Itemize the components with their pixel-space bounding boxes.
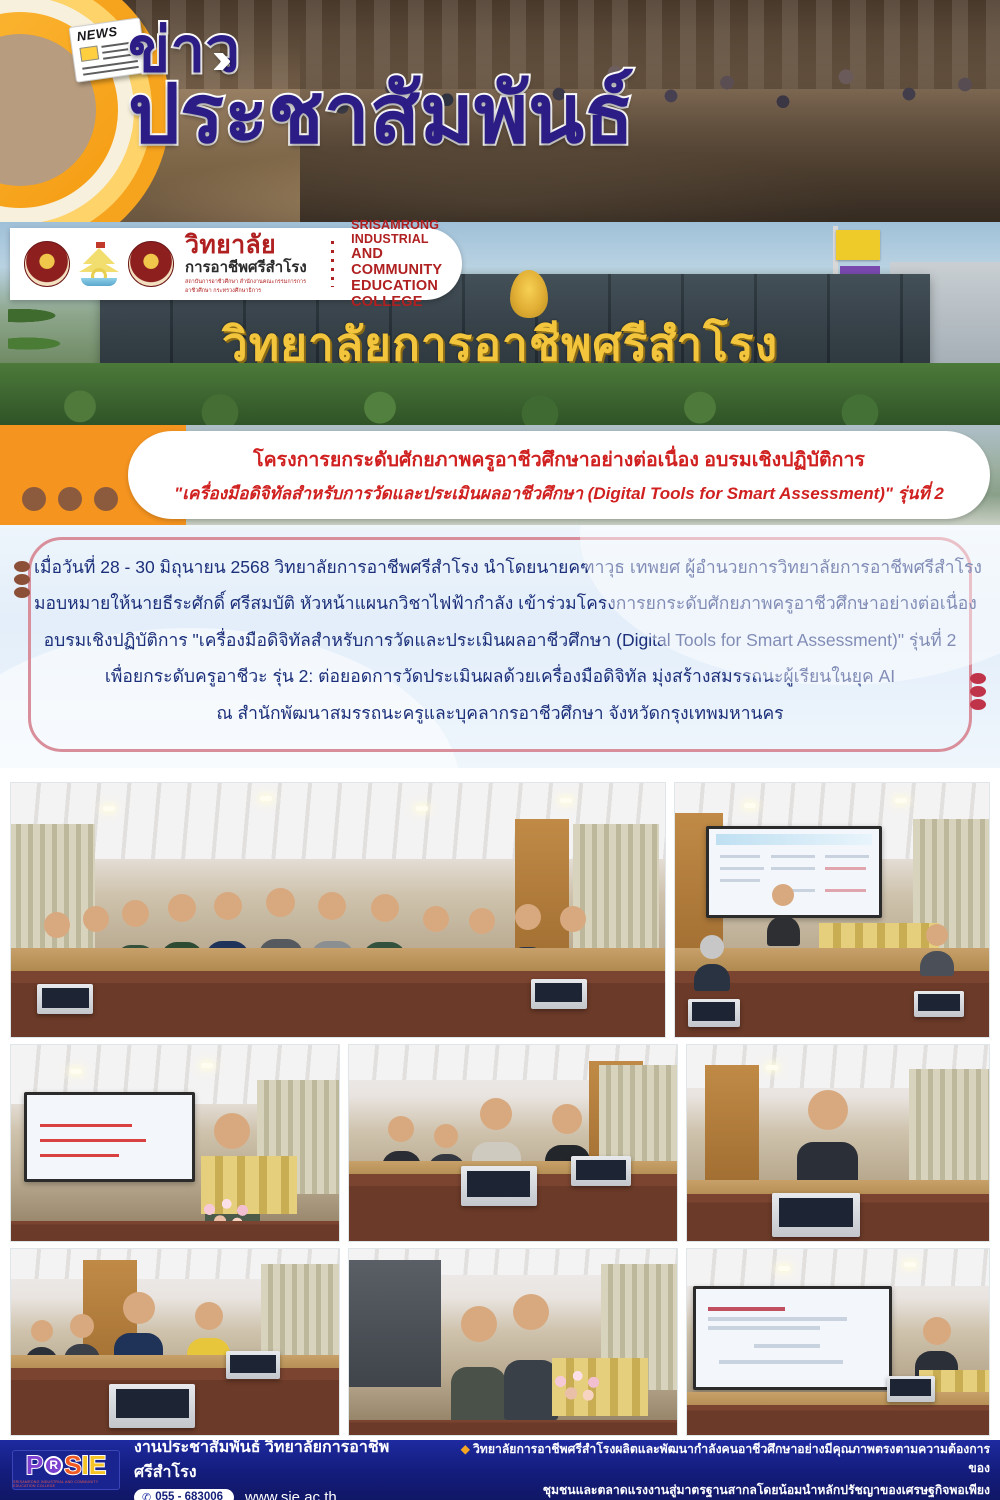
college-seal-icon <box>24 241 70 287</box>
footer-phone-pill[interactable]: ✆ 055 - 683006 <box>134 1489 234 1500</box>
yellow-flag <box>836 230 880 260</box>
logo-en-line1: SRISAMRONG INDUSTRIAL <box>351 218 462 246</box>
logo-letter-s: S <box>64 1452 81 1478</box>
gallery-photo-2[interactable] <box>674 782 990 1038</box>
body-line-3: อบรมเชิงปฏิบัติการ "เครื่องมือดิจิทัลสำห… <box>34 622 966 658</box>
project-title-line1: โครงการยกระดับศักยภาพครูอาชีวศึกษาอย่างต… <box>253 444 865 475</box>
project-title-bar: โครงการยกระดับศักยภาพครูอาชีวศึกษาอย่างต… <box>0 425 1000 525</box>
chevron-right-icon: ››› <box>212 34 220 84</box>
footer-slogan-line2: ชุมชนและตลาดแรงงานสู่มาตรฐานสากลโดยน้อมน… <box>447 1481 990 1500</box>
hedge <box>0 363 1000 425</box>
gallery-photo-4[interactable] <box>348 1044 678 1242</box>
logo-letter-p: P <box>26 1452 43 1478</box>
header-title-line2: ประชาสัมพันธ์ <box>128 74 634 156</box>
footer-website-link[interactable]: www.sie.ac.th <box>245 1489 337 1500</box>
body-line-1: เมื่อวันที่ 28 - 30 มิถุนายน 2568 วิทยาล… <box>34 549 966 585</box>
diamond-icon: ◆ <box>461 1442 470 1456</box>
header-title-group: ข่าว ประชาสัมพันธ์ <box>128 20 634 156</box>
photo-gallery <box>0 778 1000 1440</box>
project-title-line2: "เครื่องมือดิจิทัลสำหรับการวัดและประเมิน… <box>174 480 944 507</box>
document-screen <box>693 1286 892 1390</box>
project-title-panel: โครงการยกระดับศักยภาพครูอาชีวศึกษาอย่างต… <box>128 431 990 519</box>
news-body-section: เมื่อวันที่ 28 - 30 มิถุนายน 2568 วิทยาล… <box>0 525 1000 768</box>
news-poster: NEWS ข่าว ประชาสัมพันธ์ ››› วิทยาลัยการอ… <box>0 0 1000 1500</box>
left-bead-decoration <box>14 561 30 600</box>
gallery-photo-1[interactable] <box>10 782 666 1038</box>
body-line-5: ณ สำนักพัฒนาสมรรถนะครูและบุคลากรอาชีวศึก… <box>34 695 966 731</box>
logo-subtitle: SRISAMRONG INDUSTRIAL AND COMMUNITY EDUC… <box>13 1480 119 1488</box>
logo-thai-line2: การอาชีพศรีสำโรง <box>185 260 314 275</box>
body-line-4: เพื่อยกระดับครูอาชีวะ รุ่น 2: ต่อยอดการว… <box>34 658 966 694</box>
logo-en-line3: EDUCATION COLLEGE <box>351 278 462 310</box>
logo-en-line2: AND COMMUNITY <box>351 246 462 278</box>
footer-phone-number: 055 - 683006 <box>155 1491 223 1500</box>
logo-letters-ie: IE <box>82 1452 107 1478</box>
poster-footer: P R S IE SRISAMRONG INDUSTRIAL AND COMMU… <box>0 1440 1000 1500</box>
news-body-text: เมื่อวันที่ 28 - 30 มิถุนายน 2568 วิทยาล… <box>34 549 966 731</box>
title-bar-dots <box>22 487 118 511</box>
logo-divider <box>331 241 334 287</box>
body-line-2: มอบหมายให้นายธีระศักดิ์ ศรีสมบัติ หัวหน้… <box>34 585 966 621</box>
college-logo-bar: วิทยาลัย การอาชีพศรีสำโรง สถาบันการอาชีว… <box>10 228 462 300</box>
footer-slogan-text1: วิทยาลัยการอาชีพศรีสำโรงผลิตและพัฒนากำลั… <box>473 1442 990 1475</box>
presentation-screen <box>24 1092 195 1182</box>
logo-thai-small: สถาบันการอาชีวศึกษา สำนักงานคณะกรรมการกา… <box>185 278 314 295</box>
logo-thai-line1: วิทยาลัย <box>185 233 314 258</box>
college-seal-icon-2 <box>128 241 174 287</box>
gallery-photo-7[interactable] <box>348 1248 678 1436</box>
footer-slogan: ◆วิทยาลัยการอาชีพศรีสำโรงผลิตและพัฒนากำล… <box>447 1440 990 1500</box>
logo-english-text: SRISAMRONG INDUSTRIAL AND COMMUNITY EDUC… <box>351 218 462 311</box>
pavilion-logo-icon <box>79 242 119 286</box>
phone-icon: ✆ <box>142 1491 151 1500</box>
poster-header: NEWS ข่าว ประชาสัมพันธ์ ››› <box>0 0 1000 222</box>
footer-organization: งานประชาสัมพันธ์ วิทยาลัยการอาชีพศรีสำโร… <box>134 1435 447 1485</box>
footer-slogan-line1: ◆วิทยาลัยการอาชีพศรีสำโรงผลิตและพัฒนากำล… <box>447 1440 990 1478</box>
gallery-photo-5[interactable] <box>686 1044 990 1242</box>
pr-sie-logo: P R S IE SRISAMRONG INDUSTRIAL AND COMMU… <box>12 1450 120 1490</box>
right-bead-decoration <box>970 673 986 712</box>
footer-contact-block: งานประชาสัมพันธ์ วิทยาลัยการอาชีพศรีสำโร… <box>134 1435 447 1500</box>
gallery-photo-6[interactable] <box>10 1248 340 1436</box>
logo-thai-text: วิทยาลัย การอาชีพศรีสำโรง สถาบันการอาชีว… <box>185 233 314 295</box>
gallery-photo-3[interactable] <box>10 1044 340 1242</box>
logo-letter-r: R <box>44 1456 63 1475</box>
gallery-photo-8[interactable] <box>686 1248 990 1436</box>
